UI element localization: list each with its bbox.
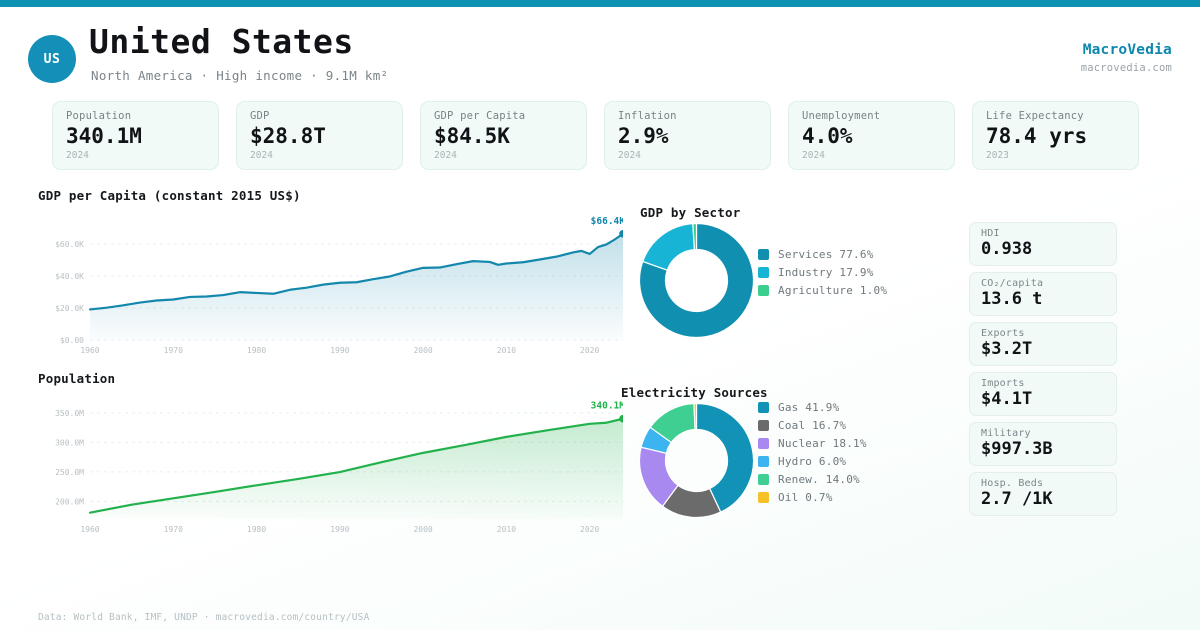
svg-text:200.0M: 200.0M — [55, 497, 84, 506]
svg-text:340.1M: 340.1M — [591, 401, 623, 412]
stat-label: Life Expectancy — [986, 110, 1125, 122]
svg-text:2020: 2020 — [580, 346, 599, 355]
svg-text:$20.0K: $20.0K — [55, 304, 84, 313]
legend-label: Hydro 6.0% — [778, 455, 846, 468]
stat-label: Inflation — [618, 110, 757, 122]
svg-text:1990: 1990 — [330, 525, 349, 534]
indicator-value: 13.6 t — [981, 289, 1105, 309]
indicator-value: $4.1T — [981, 389, 1105, 409]
svg-text:1980: 1980 — [247, 525, 266, 534]
svg-text:2010: 2010 — [497, 346, 516, 355]
stat-label: GDP — [250, 110, 389, 122]
legend-label: Services 77.6% — [778, 248, 874, 261]
indicator-label: Imports — [981, 378, 1105, 389]
svg-text:$60.0K: $60.0K — [55, 240, 84, 249]
country-meta-subtitle: North America · High income · 9.1M km² — [91, 68, 388, 83]
indicator-card-exports: Exports $3.2T — [969, 322, 1117, 366]
indicator-value: $997.3B — [981, 439, 1105, 459]
legend-item: Nuclear 18.1% — [758, 434, 867, 452]
stat-year: 2024 — [250, 150, 389, 161]
svg-text:$66.4K: $66.4K — [591, 216, 623, 227]
indicator-card-imports: Imports $4.1T — [969, 372, 1117, 416]
legend-item: Agriculture 1.0% — [758, 281, 887, 299]
electricity-sources-legend: Gas 41.9% Coal 16.7% Nuclear 18.1% Hydro… — [758, 398, 867, 506]
stat-card-population: Population 340.1M 2024 — [52, 101, 219, 170]
legend-item: Services 77.6% — [758, 245, 887, 263]
stat-card-gdp-per-capita: GDP per Capita $84.5K 2024 — [420, 101, 587, 170]
electricity-sources-chart — [638, 402, 755, 519]
stat-label: GDP per Capita — [434, 110, 573, 122]
svg-text:1980: 1980 — [247, 346, 266, 355]
legend-swatch-hydro — [758, 456, 769, 467]
indicator-value: $3.2T — [981, 339, 1105, 359]
legend-item: Oil 0.7% — [758, 488, 867, 506]
legend-swatch-oil — [758, 492, 769, 503]
stat-value: 4.0% — [802, 124, 941, 148]
population-plot: 200.0M250.0M300.0M350.0M1960197019801990… — [38, 389, 623, 549]
svg-text:350.0M: 350.0M — [55, 409, 84, 418]
stat-card-inflation: Inflation 2.9% 2024 — [604, 101, 771, 170]
gdp-per-capita-chart-title: GDP per Capita (constant 2015 US$) — [38, 188, 301, 203]
stat-year: 2024 — [802, 150, 941, 161]
population-chart-title: Population — [38, 371, 115, 386]
stat-value: 78.4 yrs — [986, 124, 1125, 148]
svg-text:2010: 2010 — [497, 525, 516, 534]
gdp-per-capita-chart: $0.00$20.0K$40.0K$60.0K19601970198019902… — [38, 206, 623, 366]
legend-swatch-coal — [758, 420, 769, 431]
svg-text:1960: 1960 — [80, 525, 99, 534]
svg-text:2020: 2020 — [580, 525, 599, 534]
country-dashboard: US United States North America · High in… — [0, 0, 1200, 630]
stat-year: 2024 — [434, 150, 573, 161]
indicator-label: Hosp. Beds — [981, 478, 1105, 489]
legend-label: Agriculture 1.0% — [778, 284, 887, 297]
indicator-label: HDI — [981, 228, 1105, 239]
legend-label: Nuclear 18.1% — [778, 437, 867, 450]
legend-item: Coal 16.7% — [758, 416, 867, 434]
brand-block: MacroVedia macrovedia.com — [1081, 42, 1172, 74]
stat-label: Unemployment — [802, 110, 941, 122]
svg-text:250.0M: 250.0M — [55, 468, 84, 477]
svg-text:$40.0K: $40.0K — [55, 272, 84, 281]
indicator-card-column: HDI 0.938 CO₂/capita 13.6 t Exports $3.2… — [969, 222, 1117, 522]
gdp-by-sector-title: GDP by Sector — [640, 205, 740, 220]
indicator-card-co2-per-capita: CO₂/capita 13.6 t — [969, 272, 1117, 316]
electricity-sources-title: Electricity Sources — [621, 385, 768, 400]
legend-item: Hydro 6.0% — [758, 452, 867, 470]
indicator-card-hdi: HDI 0.938 — [969, 222, 1117, 266]
accent-top-bar — [0, 0, 1200, 7]
legend-label: Oil 0.7% — [778, 491, 833, 504]
stat-year: 2023 — [986, 150, 1125, 161]
brand-name: MacroVedia — [1081, 42, 1172, 58]
svg-text:2000: 2000 — [413, 525, 432, 534]
legend-swatch-nuclear — [758, 438, 769, 449]
gdp-per-capita-plot: $0.00$20.0K$40.0K$60.0K19601970198019902… — [38, 206, 623, 366]
svg-text:1970: 1970 — [164, 346, 183, 355]
svg-text:1990: 1990 — [330, 346, 349, 355]
legend-swatch-services — [758, 249, 769, 260]
gdp-by-sector-chart — [638, 222, 755, 339]
legend-label: Renew. 14.0% — [778, 473, 860, 486]
indicator-value: 0.938 — [981, 239, 1105, 259]
svg-text:1960: 1960 — [80, 346, 99, 355]
indicator-card-hospital-beds: Hosp. Beds 2.7 /1K — [969, 472, 1117, 516]
brand-url: macrovedia.com — [1081, 62, 1172, 74]
legend-label: Gas 41.9% — [778, 401, 839, 414]
stat-card-gdp: GDP $28.8T 2024 — [236, 101, 403, 170]
svg-text:2000: 2000 — [413, 346, 432, 355]
legend-item: Renew. 14.0% — [758, 470, 867, 488]
country-code-label: US — [44, 52, 61, 67]
legend-label: Coal 16.7% — [778, 419, 846, 432]
legend-label: Industry 17.9% — [778, 266, 874, 279]
indicator-card-military: Military $997.3B — [969, 422, 1117, 466]
stat-card-row: Population 340.1M 2024 GDP $28.8T 2024 G… — [52, 101, 1139, 170]
legend-swatch-industry — [758, 267, 769, 278]
legend-swatch-gas — [758, 402, 769, 413]
indicator-label: CO₂/capita — [981, 278, 1105, 289]
stat-label: Population — [66, 110, 205, 122]
svg-text:300.0M: 300.0M — [55, 438, 84, 447]
footer-source-text: Data: World Bank, IMF, UNDP · macrovedia… — [38, 612, 370, 623]
legend-item: Gas 41.9% — [758, 398, 867, 416]
stat-value: $28.8T — [250, 124, 389, 148]
electricity-sources-donut — [638, 402, 755, 523]
svg-text:$0.00: $0.00 — [60, 336, 84, 345]
stat-value: 2.9% — [618, 124, 757, 148]
svg-text:1970: 1970 — [164, 525, 183, 534]
indicator-label: Exports — [981, 328, 1105, 339]
stat-card-unemployment: Unemployment 4.0% 2024 — [788, 101, 955, 170]
stat-value: $84.5K — [434, 124, 573, 148]
page-header: US United States North America · High in… — [0, 7, 1200, 98]
indicator-value: 2.7 /1K — [981, 489, 1105, 509]
indicator-label: Military — [981, 428, 1105, 439]
stat-card-life-expectancy: Life Expectancy 78.4 yrs 2023 — [972, 101, 1139, 170]
population-chart: 200.0M250.0M300.0M350.0M1960197019801990… — [38, 389, 623, 549]
stat-year: 2024 — [618, 150, 757, 161]
gdp-by-sector-legend: Services 77.6% Industry 17.9% Agricultur… — [758, 245, 887, 299]
legend-item: Industry 17.9% — [758, 263, 887, 281]
legend-swatch-renew — [758, 474, 769, 485]
gdp-by-sector-donut — [638, 222, 755, 343]
stat-value: 340.1M — [66, 124, 205, 148]
page-title: United States — [89, 22, 354, 61]
legend-swatch-agriculture — [758, 285, 769, 296]
country-flag-badge: US — [28, 35, 76, 83]
stat-year: 2024 — [66, 150, 205, 161]
